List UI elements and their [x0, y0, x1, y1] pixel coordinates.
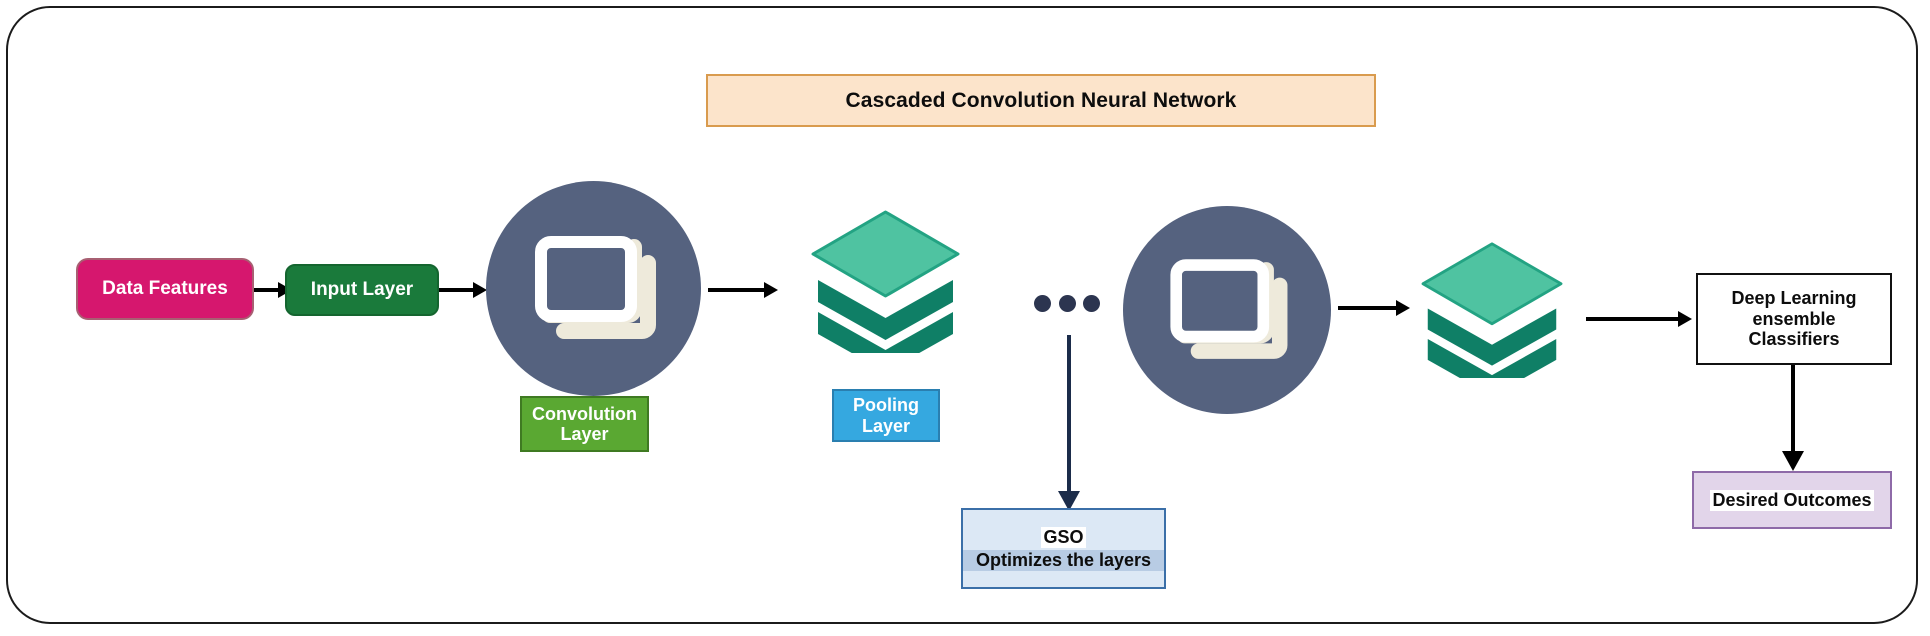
classifiers-line-3: Classifiers	[1731, 329, 1856, 350]
gso-title-label: GSO	[1041, 527, 1085, 548]
input-layer-label: Input Layer	[311, 279, 413, 301]
arrow-ellipsis-to-gso	[1055, 335, 1083, 511]
pooling-layers-icon-2[interactable]	[1418, 240, 1566, 378]
stacked-windows-icon	[1123, 206, 1331, 414]
pooling-layer-label: Pooling Layer	[832, 389, 940, 442]
convolution-layer-line-2: Layer	[560, 424, 608, 444]
ellipsis-icon	[1034, 293, 1100, 313]
convolution-layer-line-1: Convolution	[532, 404, 637, 424]
diagram-frame: Cascaded Convolution Neural Network Data…	[6, 6, 1918, 624]
convolution-circle-2[interactable]	[1123, 206, 1331, 414]
diagram-title-text: Cascaded Convolution Neural Network	[846, 89, 1237, 113]
stacked-windows-icon	[486, 181, 701, 396]
deep-learning-classifiers-text: Deep Learning ensemble Classifiers	[1731, 288, 1856, 351]
gso-subtitle-label: Optimizes the layers	[963, 550, 1164, 571]
data-features-node[interactable]: Data Features	[76, 258, 254, 320]
desired-outcomes-node[interactable]: Desired Outcomes	[1692, 471, 1892, 529]
data-features-label: Data Features	[102, 278, 228, 300]
diagram-title-banner: Cascaded Convolution Neural Network	[706, 74, 1376, 127]
desired-outcomes-label: Desired Outcomes	[1710, 490, 1873, 511]
classifiers-line-1: Deep Learning	[1731, 288, 1856, 309]
arrow-input-layer-to-convolution	[439, 280, 487, 300]
classifiers-line-2: ensemble	[1731, 309, 1856, 330]
convolution-circle-1[interactable]	[486, 181, 701, 396]
layers-stack-icon	[1418, 240, 1566, 378]
arrow-convolution-to-pooling	[708, 280, 778, 300]
arrow-convolution-2-to-pooling-2	[1338, 298, 1410, 318]
input-layer-node[interactable]: Input Layer	[285, 264, 439, 316]
ellipsis-dot-3	[1083, 295, 1100, 312]
layers-stack-icon	[808, 208, 963, 353]
ellipsis-dot-1	[1034, 295, 1051, 312]
arrow-classifiers-to-outcomes	[1780, 365, 1806, 471]
pooling-layer-line-1: Pooling	[853, 395, 919, 415]
pooling-layer-line-2: Layer	[862, 416, 910, 436]
convolution-layer-label: Convolution Layer	[520, 396, 649, 452]
ellipsis-dot-2	[1059, 295, 1076, 312]
gso-node[interactable]: GSO Optimizes the layers	[961, 508, 1166, 589]
deep-learning-classifiers-node[interactable]: Deep Learning ensemble Classifiers	[1696, 273, 1892, 365]
arrow-pooling-to-classifiers	[1586, 309, 1692, 329]
pooling-layers-icon-1[interactable]	[808, 208, 963, 353]
